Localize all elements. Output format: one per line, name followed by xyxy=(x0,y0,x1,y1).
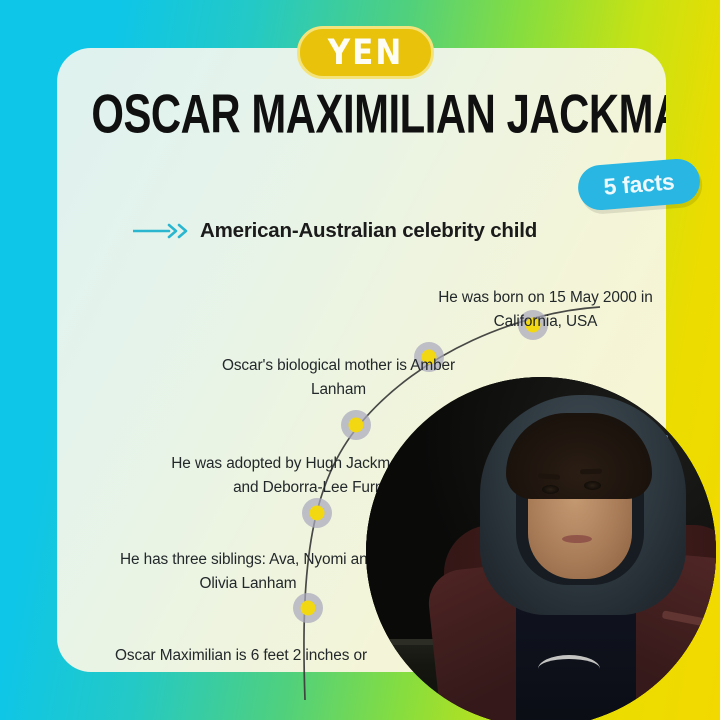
yen-logo-label: YEN xyxy=(328,32,404,72)
facts-count-badge: 5 facts xyxy=(576,157,701,211)
photo-patch-lower xyxy=(694,672,716,711)
facts-count-label: 5 facts xyxy=(603,168,676,200)
avatar xyxy=(366,377,716,720)
photo-patch-upper xyxy=(690,637,716,667)
fact-item: He was born on 15 May 2000 in California… xyxy=(413,286,666,334)
photo-eye-left xyxy=(542,485,559,494)
subtitle-row: American-Australian celebrity child xyxy=(133,216,603,246)
fact-item: Oscar Maximilian is 6 feet 2 inches or 1… xyxy=(107,644,375,672)
fact-item: He has three siblings: Ava, Nyomi and Ol… xyxy=(119,548,377,596)
photo-eyebrow-right xyxy=(580,469,602,475)
page-title: OSCAR MAXIMILIAN JACKMAN xyxy=(91,86,632,141)
yen-logo[interactable]: YEN xyxy=(297,26,434,79)
photo-eye-right xyxy=(584,481,601,490)
double-chevron-right-icon xyxy=(133,223,191,239)
page-subtitle: American-Australian celebrity child xyxy=(200,216,537,246)
photo-mouth xyxy=(562,535,592,543)
